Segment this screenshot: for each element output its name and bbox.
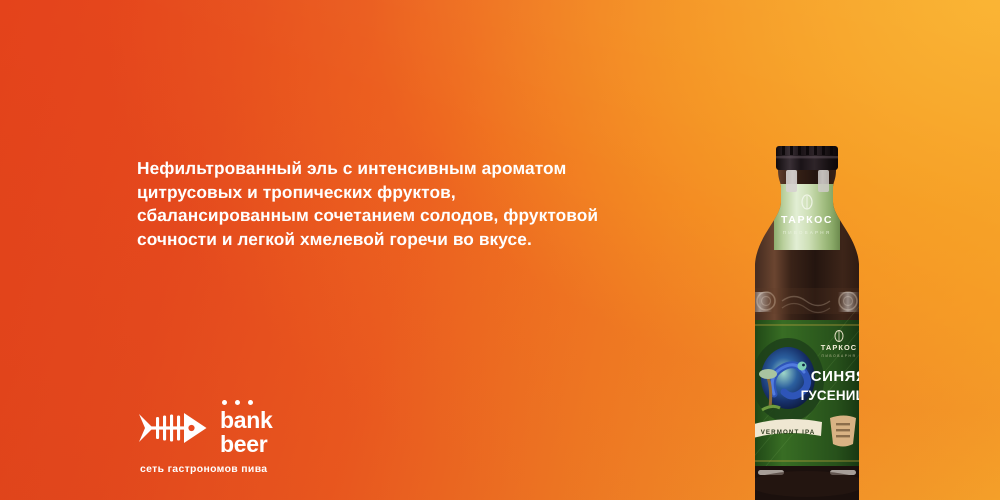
neck-label-sub: ПИВОВАРНЯ — [783, 230, 832, 235]
promo-banner: Нефильтрованный эль с интенсивным аромат… — [0, 0, 1000, 500]
logo-dots-icon — [222, 400, 273, 405]
body-label-name-line-2: ГУСЕНИЦА — [801, 388, 876, 403]
logo-tagline: сеть гастрономов пива — [140, 464, 267, 475]
body-label-brand-sub: ПИВОВАРНЯ — [821, 354, 856, 358]
description-line-2: цитрусовых и тропических фруктов, — [137, 181, 657, 205]
logo-word-beer: beer — [220, 434, 273, 455]
beer-bottle-illustration: ТАРКОС ПИВОВАРНЯ — [726, 142, 888, 500]
neck-label-brand: ТАРКОС — [781, 214, 833, 226]
logo-word-bank: bank — [220, 410, 273, 431]
fish-skeleton-icon — [139, 408, 207, 448]
bank-beer-logo[interactable]: bank beer сеть гастрономов пива — [139, 400, 273, 475]
promo-description: Нефильтрованный эль с интенсивным аромат… — [137, 157, 657, 252]
logo-row: bank beer — [139, 400, 273, 455]
description-line-4: сочности и легкой хмелевой горечи во вку… — [137, 228, 657, 252]
body-label-style: VERMONT IPA — [761, 429, 816, 436]
beer-bottle-image: ТАРКОС ПИВОВАРНЯ — [726, 142, 888, 500]
description-line-3: сбалансированным сочетанием солодов, фру… — [137, 204, 657, 228]
description-line-1: Нефильтрованный эль с интенсивным аромат… — [137, 157, 657, 181]
body-label-brand: ТАРКОС — [821, 343, 858, 352]
logo-wordmark: bank beer — [220, 400, 273, 455]
body-label-name-line-1: СИНЯЯ — [811, 368, 868, 385]
